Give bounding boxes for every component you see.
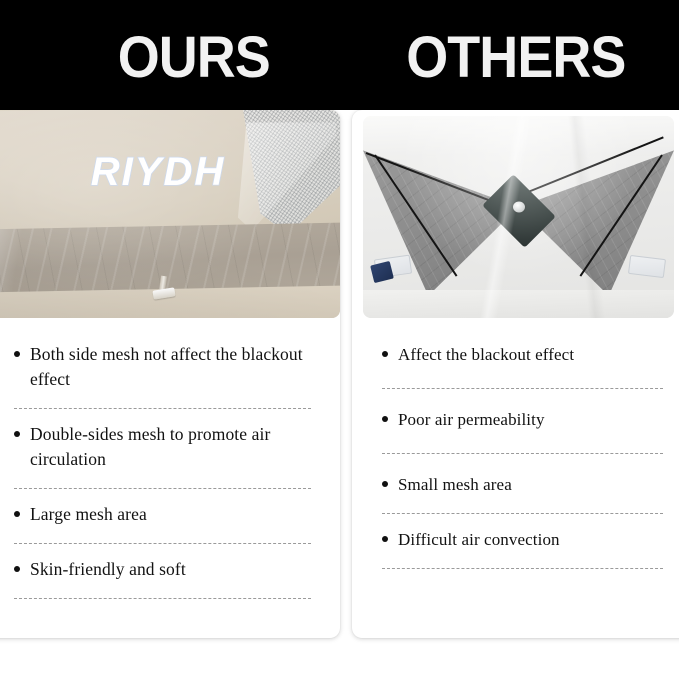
brand-logo-riydh: RIYDH (0, 110, 340, 318)
bullet-icon (14, 431, 20, 437)
feature-item: Skin-friendly and soft (14, 557, 318, 585)
feature-list-others: Affect the blackout effect Poor air perm… (382, 342, 665, 569)
comparison-card-ours: RIYDH Both side mesh not affect the blac… (0, 110, 340, 638)
feature-text: Affect the blackout effect (398, 342, 574, 367)
feature-text: Double-sides mesh to promote air circula… (30, 422, 318, 472)
feature-text: Poor air permeability (398, 407, 545, 432)
photo-others-background (363, 116, 674, 318)
bullet-icon (382, 351, 388, 357)
product-photo-others (363, 116, 674, 318)
feature-separator (14, 408, 311, 409)
comparison-header-bar: OURS OTHERS (0, 0, 679, 110)
bullet-icon (382, 536, 388, 542)
comparison-area: RIYDH Both side mesh not affect the blac… (0, 110, 679, 674)
feature-text: Small mesh area (398, 472, 512, 497)
feature-text: Difficult air convection (398, 527, 560, 552)
feature-separator (382, 453, 663, 454)
feature-item: Small mesh area (382, 472, 665, 500)
side-pocket-blue (370, 261, 394, 283)
feature-text: Skin-friendly and soft (30, 557, 186, 582)
bullet-icon (382, 416, 388, 422)
feature-separator (14, 543, 311, 544)
feature-separator (382, 513, 663, 514)
bullet-icon (14, 566, 20, 572)
feature-separator (382, 568, 663, 569)
product-photo-ours: RIYDH (0, 110, 340, 318)
feature-text: Both side mesh not affect the blackout e… (30, 342, 318, 392)
header-title-others: OTHERS (406, 29, 625, 87)
feature-separator (382, 388, 663, 389)
feature-separator (14, 488, 311, 489)
header-title-ours: OURS (118, 29, 270, 87)
feature-item: Poor air permeability (382, 407, 665, 435)
feature-list-ours: Both side mesh not affect the blackout e… (14, 342, 318, 599)
brand-logo-text: RIYDH (91, 150, 225, 194)
bullet-icon (14, 511, 20, 517)
tent-floor (363, 290, 674, 318)
comparison-card-others: Affect the blackout effect Poor air perm… (352, 110, 679, 638)
feature-separator (14, 598, 311, 599)
side-pocket-right (628, 255, 666, 278)
center-knob-icon (513, 201, 525, 212)
bullet-icon (382, 481, 388, 487)
feature-item: Difficult air convection (382, 527, 665, 555)
photo-ours-background: RIYDH (0, 110, 340, 318)
bullet-icon (14, 351, 20, 357)
feature-item: Both side mesh not affect the blackout e… (14, 342, 318, 395)
feature-item: Large mesh area (14, 502, 318, 530)
feature-text: Large mesh area (30, 502, 147, 527)
feature-item: Double-sides mesh to promote air circula… (14, 422, 318, 475)
feature-item: Affect the blackout effect (382, 342, 665, 370)
